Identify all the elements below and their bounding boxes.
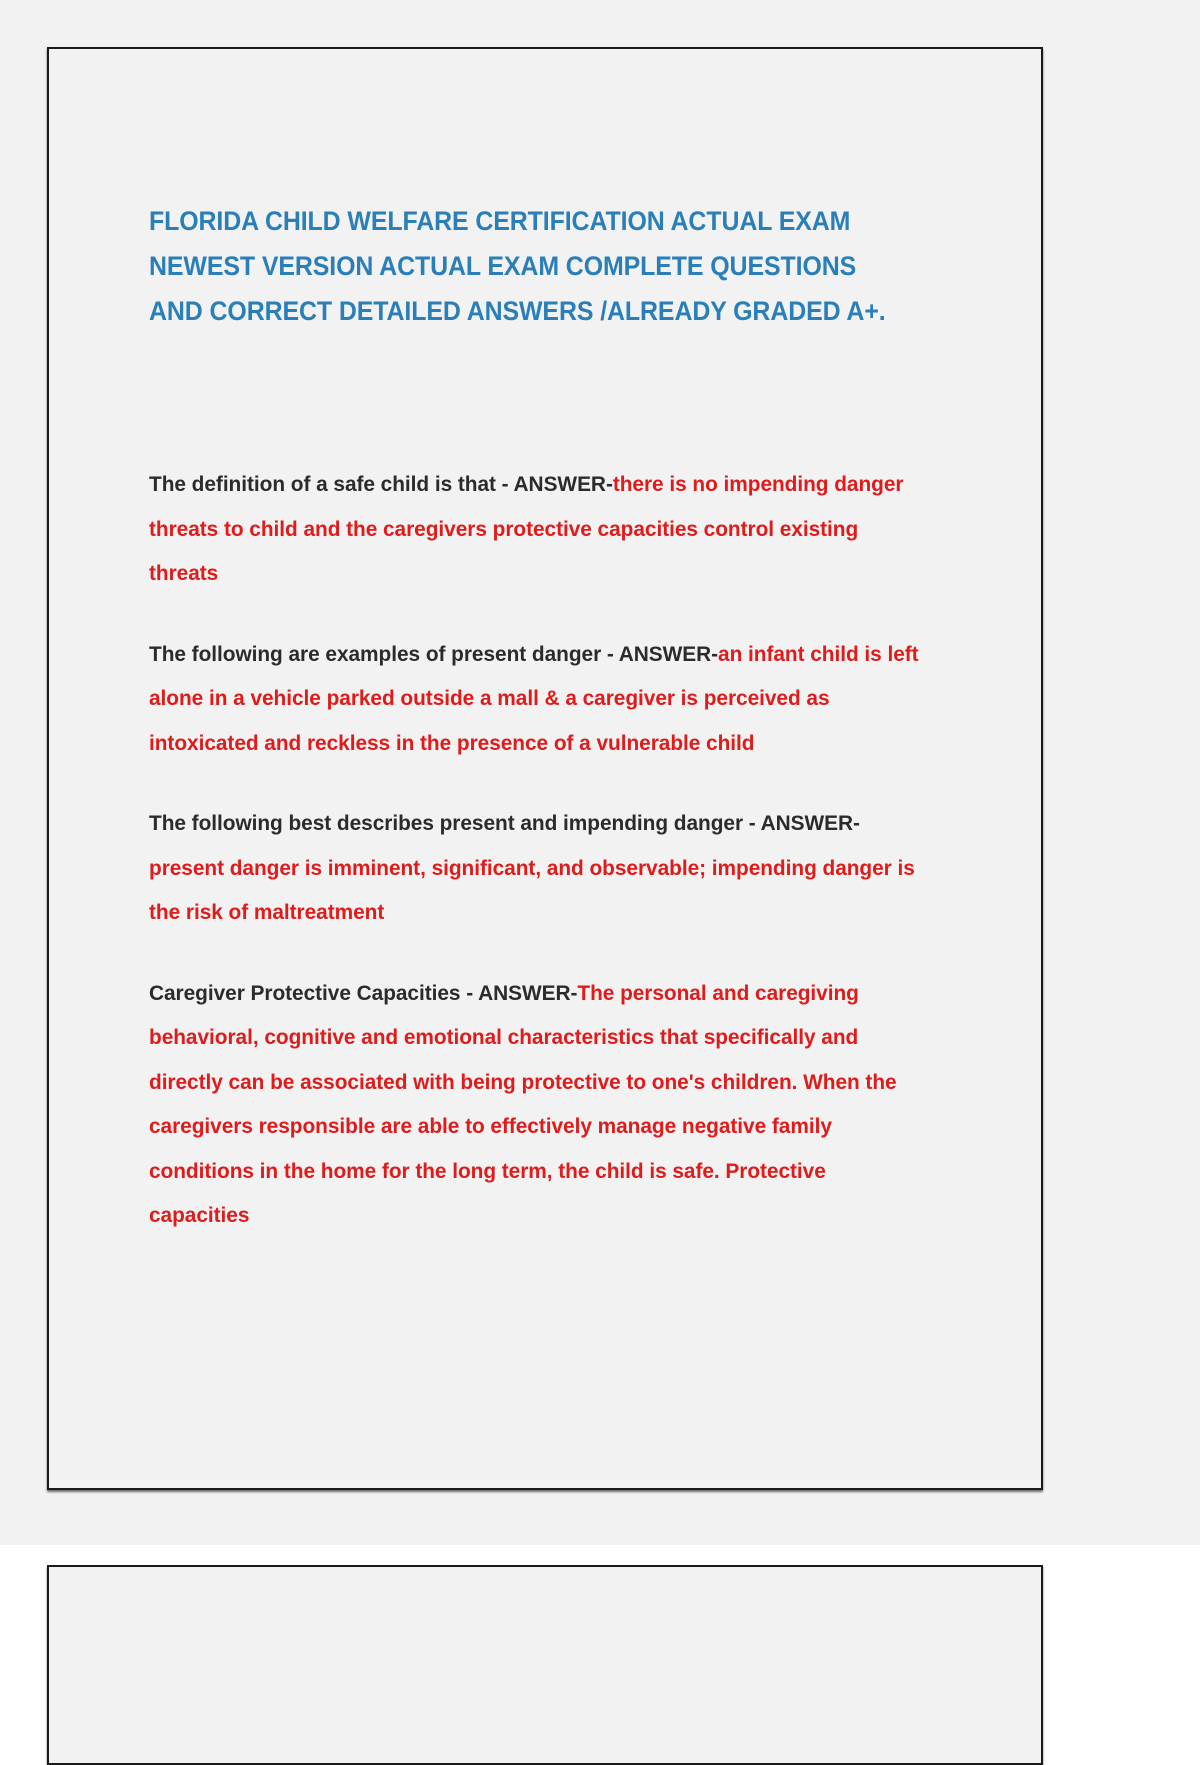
document-viewport: FLORIDA CHILD WELFARE CERTIFICATION ACTU…: [0, 0, 1200, 1700]
question-text: The definition of a safe child is that -…: [149, 472, 613, 496]
question-text: Caregiver Protective Capacities - ANSWER…: [149, 981, 577, 1005]
page-title: FLORIDA CHILD WELFARE CERTIFICATION ACTU…: [149, 199, 901, 334]
page-title-line-1: FLORIDA CHILD WELFARE CERTIFICATION ACTU…: [149, 199, 901, 244]
question-text: The following best describes present and…: [149, 811, 860, 835]
question-text: The following are examples of present da…: [149, 642, 718, 666]
qa-block: The definition of a safe child is that -…: [149, 462, 925, 596]
qa-block: The following best describes present and…: [149, 801, 925, 935]
qa-list: The definition of a safe child is that -…: [149, 462, 949, 1238]
document-page-2: [47, 1565, 1043, 1765]
qa-block: Caregiver Protective Capacities - ANSWER…: [149, 971, 925, 1238]
page-title-line-3: AND CORRECT DETAILED ANSWERS /ALREADY GR…: [149, 289, 901, 334]
page-title-line-2: NEWEST VERSION ACTUAL EXAM COMPLETE QUES…: [149, 244, 901, 289]
document-page-1: FLORIDA CHILD WELFARE CERTIFICATION ACTU…: [47, 47, 1043, 1490]
answer-text: The personal and caregiving behavioral, …: [149, 981, 897, 1228]
page-1-content: FLORIDA CHILD WELFARE CERTIFICATION ACTU…: [149, 199, 949, 1238]
qa-block: The following are examples of present da…: [149, 632, 925, 766]
answer-text: present danger is imminent, significant,…: [149, 856, 915, 925]
